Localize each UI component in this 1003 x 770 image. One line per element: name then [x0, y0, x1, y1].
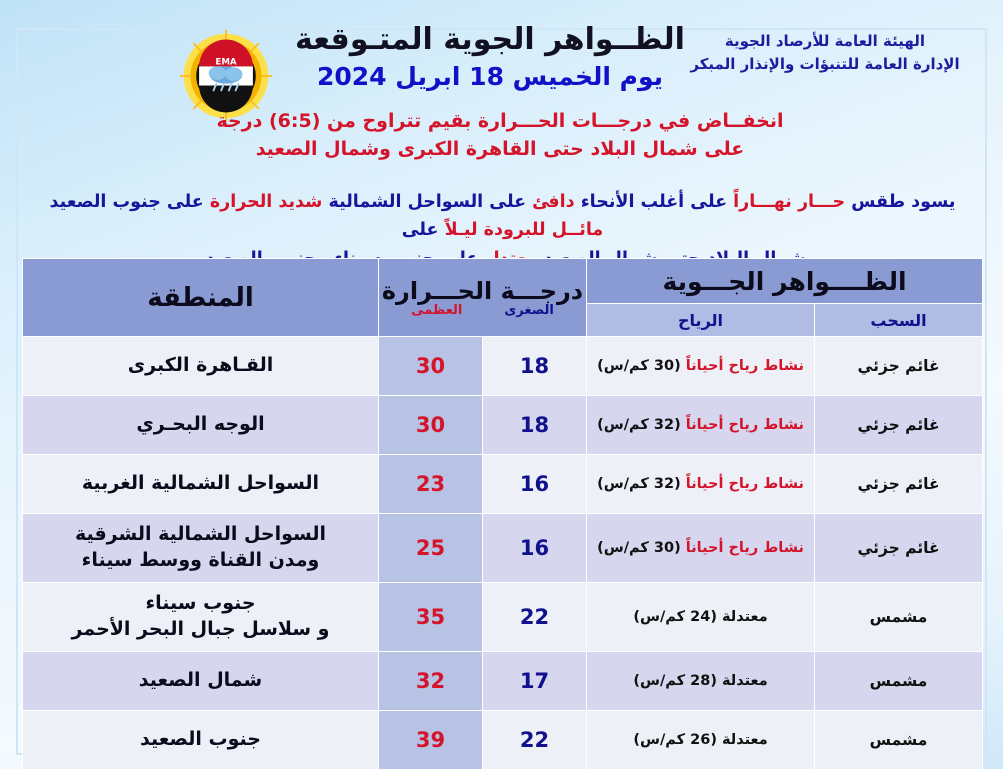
summary-hot-1: حـــار نهـــاراً: [733, 192, 845, 212]
agency-block: الهيئة العامة للأرصاد الجوية الإدارة الع…: [675, 30, 975, 77]
summary-part-5: على: [402, 220, 445, 240]
cell-cloud: مشمس: [815, 711, 983, 770]
cell-temp-min: 16: [483, 455, 587, 514]
cell-cloud: مشمس: [815, 583, 983, 652]
page-header: الهيئة العامة للأرصاد الجوية الإدارة الع…: [0, 0, 1003, 180]
header-region: المنطقة: [23, 259, 379, 337]
wind-label: نشاط رياح أحياناً: [686, 476, 804, 492]
summary-hot-2: دافئ: [532, 192, 574, 212]
cell-temp-min: 18: [483, 337, 587, 396]
cell-temp-max: 30: [379, 337, 483, 396]
summary-hot-3: شديد الحرارة: [210, 192, 323, 212]
svg-text:EMA: EMA: [215, 57, 236, 67]
summary-part-1: يسود طقس: [845, 192, 955, 212]
wind-label: معتدلة: [722, 609, 768, 625]
table-row: غائم جزئينشاط رياح أحياناً (32 كم/س)1623…: [23, 455, 983, 514]
table-row: غائم جزئينشاط رياح أحياناً (32 كم/س)1830…: [23, 396, 983, 455]
ema-emblem-icon: EMA: [196, 40, 256, 113]
cell-temp-min: 16: [483, 514, 587, 583]
summary-part-4: على جنوب الصعيد: [49, 192, 209, 212]
table-body: غائم جزئينشاط رياح أحياناً (30 كم/س)1830…: [23, 337, 983, 770]
header-wind: الرياح: [587, 304, 815, 337]
cell-temp-max: 25: [379, 514, 483, 583]
wind-speed: (30 كم/س): [597, 358, 686, 374]
cell-wind: نشاط رياح أحياناً (30 كم/س): [587, 514, 815, 583]
table-row: غائم جزئينشاط رياح أحياناً (30 كم/س)1625…: [23, 514, 983, 583]
wind-speed: (32 كم/س): [597, 417, 686, 433]
header-temperature-label: درجـــة الحـــرارة: [379, 277, 586, 305]
cell-wind: نشاط رياح أحياناً (30 كم/س): [587, 337, 815, 396]
cell-temp-min: 17: [483, 652, 587, 711]
table-row: مشمسمعتدلة (26 كم/س)2239جنوب الصعيد: [23, 711, 983, 770]
cell-region: السواحل الشمالية الغربية: [23, 455, 379, 514]
wind-label: نشاط رياح أحياناً: [686, 358, 804, 374]
cell-region: القـاهرة الكبرى: [23, 337, 379, 396]
cell-temp-min: 18: [483, 396, 587, 455]
wind-label: نشاط رياح أحياناً: [686, 417, 804, 433]
agency-line-1: الهيئة العامة للأرصاد الجوية: [675, 30, 975, 53]
wind-speed: (30 كم/س): [597, 540, 686, 556]
cell-wind: نشاط رياح أحياناً (32 كم/س): [587, 396, 815, 455]
cell-region: السواحل الشمالية الشرقيةومدن القناة ووسط…: [23, 514, 379, 583]
wind-speed: (24 كم/س): [633, 609, 722, 625]
cell-cloud: غائم جزئي: [815, 396, 983, 455]
wind-label: نشاط رياح أحياناً: [686, 540, 804, 556]
table-row: مشمسمعتدلة (28 كم/س)1732شمال الصعيد: [23, 652, 983, 711]
cell-region: الوجه البحـري: [23, 396, 379, 455]
summary-part-2: على أغلب الأنحاء: [575, 192, 734, 212]
title-block: الظــواهر الجوية المتـوقعة يوم الخميس 18…: [280, 22, 700, 94]
table-header-row-top: الظــــواهر الجـــوية درجـــة الحـــرارة…: [23, 259, 983, 304]
header-temp-min: الصغرى: [504, 303, 554, 318]
wind-speed: (28 كم/س): [633, 673, 722, 689]
header-clouds: السحب: [815, 304, 983, 337]
cell-temp-min: 22: [483, 711, 587, 770]
cell-wind: نشاط رياح أحياناً (32 كم/س): [587, 455, 815, 514]
cell-temp-min: 22: [483, 583, 587, 652]
cell-wind: معتدلة (26 كم/س): [587, 711, 815, 770]
header-phenomena: الظــــواهر الجـــوية: [587, 259, 983, 304]
cell-temp-max: 32: [379, 652, 483, 711]
cell-cloud: غائم جزئي: [815, 337, 983, 396]
cell-wind: معتدلة (28 كم/س): [587, 652, 815, 711]
agency-line-2: الإدارة العامة للتنبؤات والإنذار المبكر: [675, 53, 975, 76]
alert-banner: انخفــاض في درجـــات الحـــرارة بقيم تتر…: [150, 108, 850, 163]
table-row: غائم جزئينشاط رياح أحياناً (30 كم/س)1830…: [23, 337, 983, 396]
summary-hot-4: مائــل للبرودة ليـلاً: [445, 220, 604, 240]
wind-label: معتدلة: [722, 732, 768, 748]
forecast-date: يوم الخميس 18 ابريل 2024: [280, 61, 700, 94]
header-temperature: درجـــة الحـــرارة الصغرى العظمى: [379, 259, 587, 337]
wind-speed: (26 كم/س): [633, 732, 722, 748]
cell-cloud: غائم جزئي: [815, 455, 983, 514]
cell-cloud: غائم جزئي: [815, 514, 983, 583]
cell-region: جنوب الصعيد: [23, 711, 379, 770]
cell-temp-max: 30: [379, 396, 483, 455]
summary-part-3: على السواحل الشمالية: [322, 192, 532, 212]
forecast-table: الظــــواهر الجـــوية درجـــة الحـــرارة…: [22, 258, 983, 770]
cell-temp-max: 35: [379, 583, 483, 652]
cell-temp-max: 39: [379, 711, 483, 770]
alert-line-2: على شمال البلاد حتى القاهرة الكبرى وشمال…: [150, 136, 850, 164]
wind-label: معتدلة: [722, 673, 768, 689]
wind-speed: (32 كم/س): [597, 476, 686, 492]
table-row: مشمسمعتدلة (24 كم/س)2235جنوب سيناءو سلاس…: [23, 583, 983, 652]
cell-region: جنوب سيناءو سلاسل جبال البحر الأحمر: [23, 583, 379, 652]
cell-cloud: مشمس: [815, 652, 983, 711]
forecast-page: الهيئة العامة للأرصاد الجوية الإدارة الع…: [0, 0, 1003, 769]
alert-line-1: انخفــاض في درجـــات الحـــرارة بقيم تتر…: [150, 108, 850, 136]
header-temp-max: العظمى: [411, 303, 462, 318]
cell-region: شمال الصعيد: [23, 652, 379, 711]
cell-temp-max: 23: [379, 455, 483, 514]
page-title: الظــواهر الجوية المتـوقعة: [280, 22, 700, 57]
cell-wind: معتدلة (24 كم/س): [587, 583, 815, 652]
